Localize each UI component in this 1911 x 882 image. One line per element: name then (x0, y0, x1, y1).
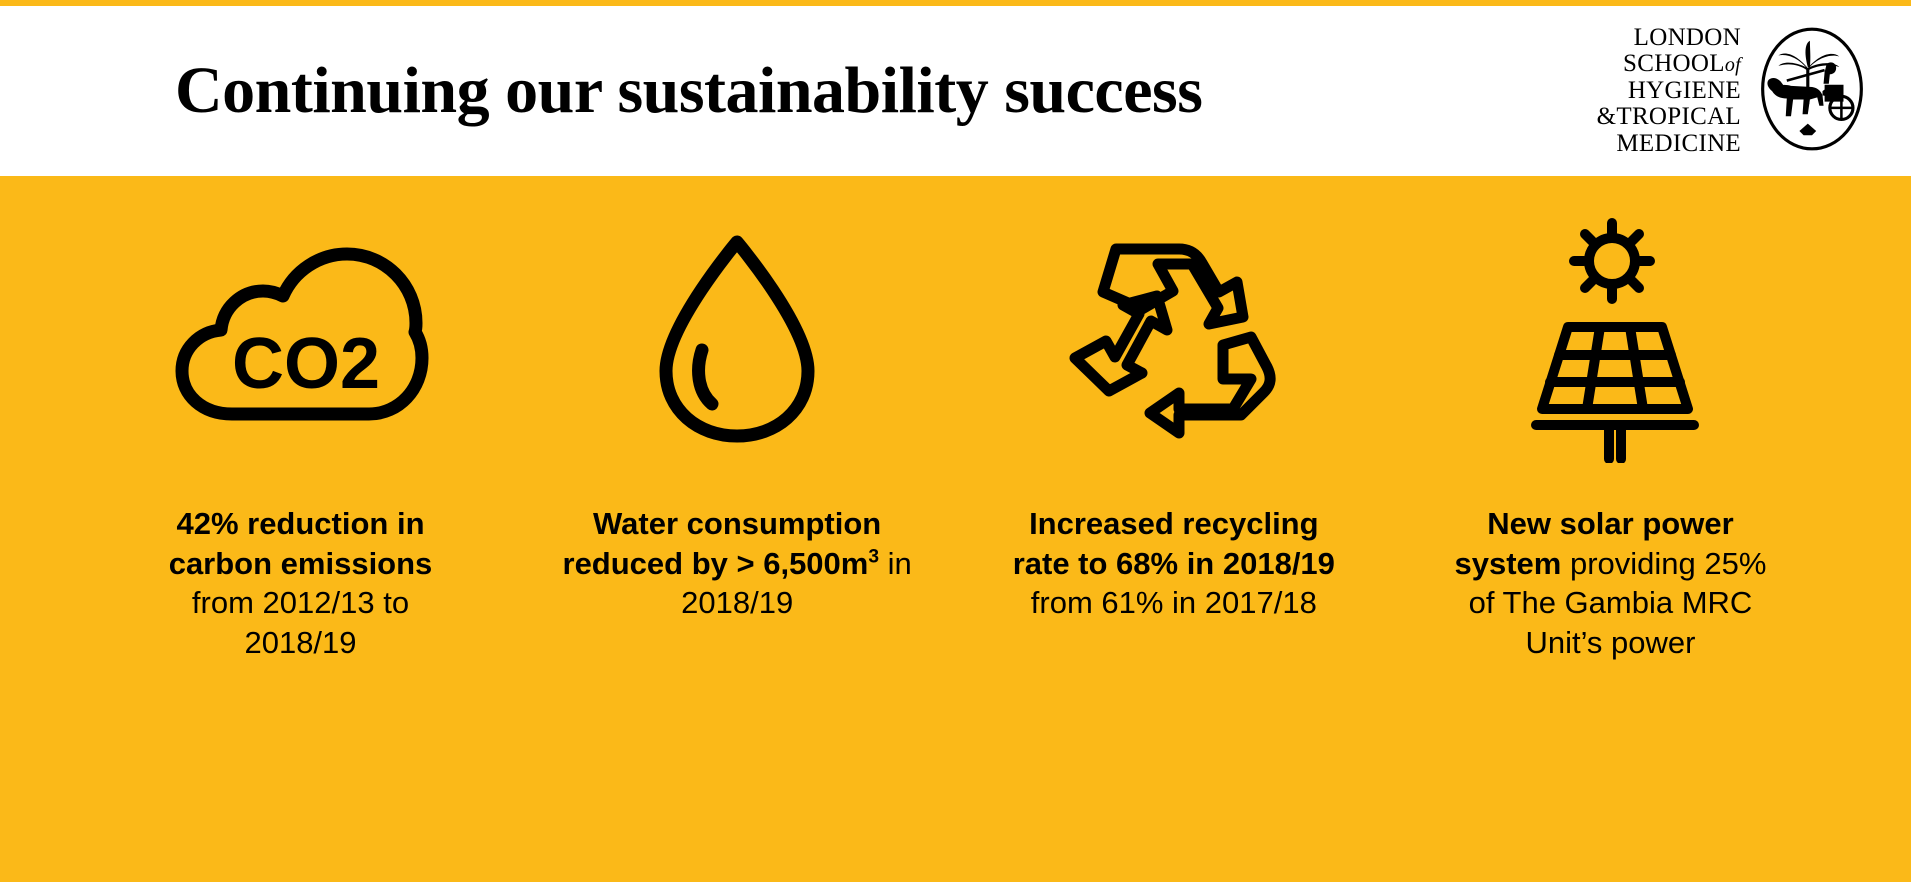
logo-line-medicine: MEDICINE (1597, 131, 1741, 158)
page-title: Continuing our sustainability success (175, 58, 1202, 124)
logo-line-london: LONDON (1597, 25, 1741, 52)
caption-water-bold: Water consumption reduced by > 6,500m3 (563, 506, 882, 581)
stat-column-water: Water consumption reduced by > 6,500m3 i… (522, 208, 952, 623)
co2-cloud-icon: CO2 (170, 208, 432, 468)
stats-body: CO2 42% reduction in carbon emissions fr… (0, 176, 1911, 882)
caption-recycling-bold: Increased recycling rate to 68% in 2018/… (1013, 506, 1335, 581)
stat-column-recycling: Increased recycling rate to 68% in 2018/… (959, 208, 1389, 623)
caption-carbon: 42% reduction in carbon emissions from 2… (151, 504, 451, 663)
caption-recycling: Increased recycling rate to 68% in 2018/… (994, 504, 1354, 623)
co2-label: CO2 (231, 324, 379, 404)
lshtm-logo: LONDON SCHOOLof HYGIENE &TROPICAL MEDICI… (1597, 25, 1875, 158)
caption-solar: New solar power system providing 25% of … (1435, 504, 1785, 663)
caption-recycling-regular: from 61% in 2017/18 (1031, 585, 1317, 620)
stat-column-solar: New solar power system providing 25% of … (1395, 208, 1825, 663)
logo-line-of: of (1725, 54, 1741, 76)
stats-columns: CO2 42% reduction in carbon emissions fr… (46, 208, 1866, 663)
header-band: Continuing our sustainability success LO… (0, 6, 1911, 176)
logo-line-school-text: SCHOOL (1623, 50, 1725, 77)
caption-water-bold-text: Water consumption reduced by > 6,500m (563, 506, 882, 581)
sustainability-infographic: Continuing our sustainability success LO… (0, 0, 1911, 882)
stat-column-carbon: CO2 42% reduction in carbon emissions fr… (86, 208, 516, 663)
caption-water-superscript: 3 (868, 546, 879, 567)
caption-carbon-regular: from 2012/13 to 2018/19 (192, 585, 409, 660)
caption-carbon-bold: 42% reduction in carbon emissions (169, 506, 433, 581)
logo-line-hygiene: HYGIENE (1597, 78, 1741, 105)
solar-panel-icon (1490, 208, 1730, 468)
logo-seal-icon (1749, 26, 1875, 157)
recycling-icon (1059, 208, 1289, 468)
logo-wordmark: LONDON SCHOOLof HYGIENE &TROPICAL MEDICI… (1597, 25, 1741, 158)
logo-line-school: SCHOOLof (1597, 51, 1741, 78)
caption-water: Water consumption reduced by > 6,500m3 i… (537, 504, 937, 623)
water-droplet-icon (642, 208, 832, 468)
logo-line-tropical: &TROPICAL (1597, 104, 1741, 131)
